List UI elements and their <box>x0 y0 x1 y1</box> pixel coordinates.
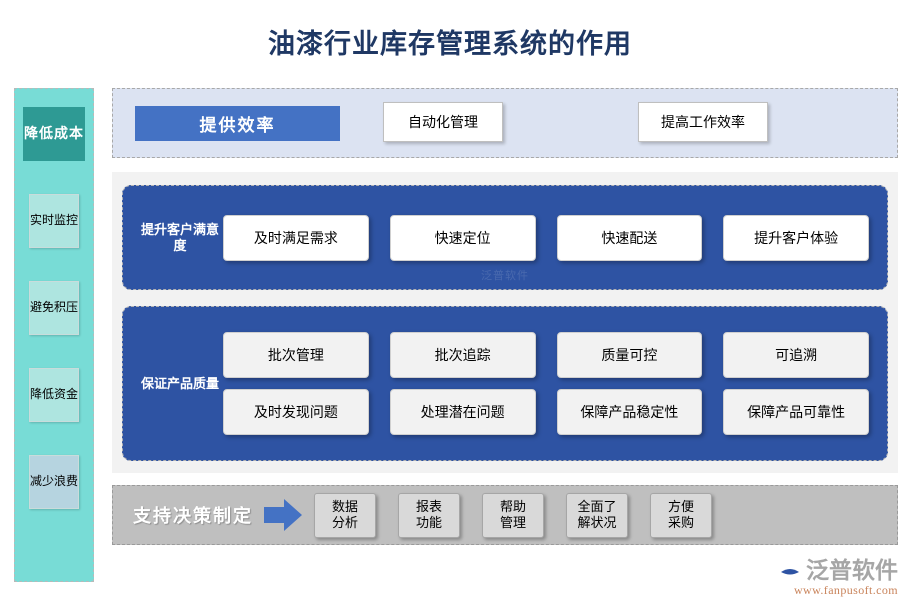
card-quality-controllable[interactable]: 质量可控 <box>557 332 703 378</box>
panel-product-quality: 保证产品质量 批次管理 批次追踪 质量可控 可追溯 及时发现问题 处理潜在问题 … <box>122 306 888 461</box>
sidebar-item-reduce-waste[interactable]: 减少浪费 <box>29 455 79 509</box>
card-data-analysis[interactable]: 数据 分析 <box>314 493 376 538</box>
card-detect-issues-timely[interactable]: 及时发现问题 <box>223 389 369 435</box>
panel-label-product-quality: 保证产品质量 <box>123 376 223 392</box>
card-batch-management[interactable]: 批次管理 <box>223 332 369 378</box>
sidebar-item-avoid-overstock[interactable]: 避免积压 <box>29 281 79 335</box>
card-line-1: 方便 <box>668 499 694 515</box>
page-title: 油漆行业库存管理系统的作用 <box>0 22 900 61</box>
card-help-management[interactable]: 帮助 管理 <box>482 493 544 538</box>
card-full-situation-awareness[interactable]: 全面了 解状况 <box>566 493 628 538</box>
card-convenient-purchasing[interactable]: 方便 采购 <box>650 493 712 538</box>
card-meet-demand-timely[interactable]: 及时满足需求 <box>223 215 369 261</box>
panel-label-customer-satisfaction: 提升客户满意度 <box>123 222 223 253</box>
sidebar-item-realtime-monitor[interactable]: 实时监控 <box>29 194 79 248</box>
card-ensure-product-stability[interactable]: 保障产品稳定性 <box>557 389 703 435</box>
card-report-function[interactable]: 报表 功能 <box>398 493 460 538</box>
panel-card-area: 批次管理 批次追踪 质量可控 可追溯 及时发现问题 处理潜在问题 保障产品稳定性… <box>223 332 887 435</box>
panel-card-area: 及时满足需求 快速定位 快速配送 提升客户体验 <box>223 215 887 261</box>
main-content: 提供效率 自动化管理 提高工作效率 提升客户满意度 及时满足需求 快速定位 快速… <box>112 88 898 588</box>
card-fast-delivery[interactable]: 快速配送 <box>557 215 703 261</box>
card-ensure-product-reliability[interactable]: 保障产品可靠性 <box>723 389 869 435</box>
card-line-1: 报表 <box>416 499 442 515</box>
sidebar-item-reduce-capital[interactable]: 降低资金 <box>29 368 79 422</box>
card-row: 及时发现问题 处理潜在问题 保障产品稳定性 保障产品可靠性 <box>223 389 869 435</box>
card-handle-potential-issues[interactable]: 处理潜在问题 <box>390 389 536 435</box>
sidebar-header-label: 降低成本 <box>23 107 85 161</box>
panel-watermark: 泛普软件 <box>481 267 529 283</box>
arrow-right-icon <box>264 498 302 532</box>
sidebar-cost-reduction: 降低成本 实时监控 避免积压 降低资金 减少浪费 <box>14 88 94 582</box>
card-improve-customer-experience[interactable]: 提升客户体验 <box>723 215 869 261</box>
card-line-2: 解状况 <box>577 515 616 531</box>
decision-support-bar: 支持决策制定 数据 分析 报表 功能 帮助 管理 <box>112 485 898 545</box>
decision-support-cards: 数据 分析 报表 功能 帮助 管理 全面了 解状况 <box>314 493 897 538</box>
card-traceable[interactable]: 可追溯 <box>723 332 869 378</box>
panel-customer-satisfaction: 提升客户满意度 及时满足需求 快速定位 快速配送 提升客户体验 泛普软件 <box>122 185 888 290</box>
card-row: 及时满足需求 快速定位 快速配送 提升客户体验 <box>223 215 869 261</box>
panels-wrapper: 提升客户满意度 及时满足需求 快速定位 快速配送 提升客户体验 泛普软件 保证产… <box>112 172 898 473</box>
card-batch-tracking[interactable]: 批次追踪 <box>390 332 536 378</box>
card-line-2: 功能 <box>416 515 442 531</box>
decision-support-label: 支持决策制定 <box>133 502 253 528</box>
card-line-2: 采购 <box>668 515 694 531</box>
card-line-1: 全面了 <box>577 499 616 515</box>
card-fast-locate[interactable]: 快速定位 <box>390 215 536 261</box>
efficiency-primary-button[interactable]: 提供效率 <box>135 106 340 141</box>
card-line-1: 帮助 <box>500 499 526 515</box>
card-line-2: 分析 <box>332 515 358 531</box>
card-line-1: 数据 <box>332 499 358 515</box>
card-line-2: 管理 <box>500 515 526 531</box>
card-row: 批次管理 批次追踪 质量可控 可追溯 <box>223 332 869 378</box>
efficiency-card-work-efficiency[interactable]: 提高工作效率 <box>638 102 768 142</box>
efficiency-card-automation[interactable]: 自动化管理 <box>383 102 503 142</box>
efficiency-row: 提供效率 自动化管理 提高工作效率 <box>112 88 898 158</box>
